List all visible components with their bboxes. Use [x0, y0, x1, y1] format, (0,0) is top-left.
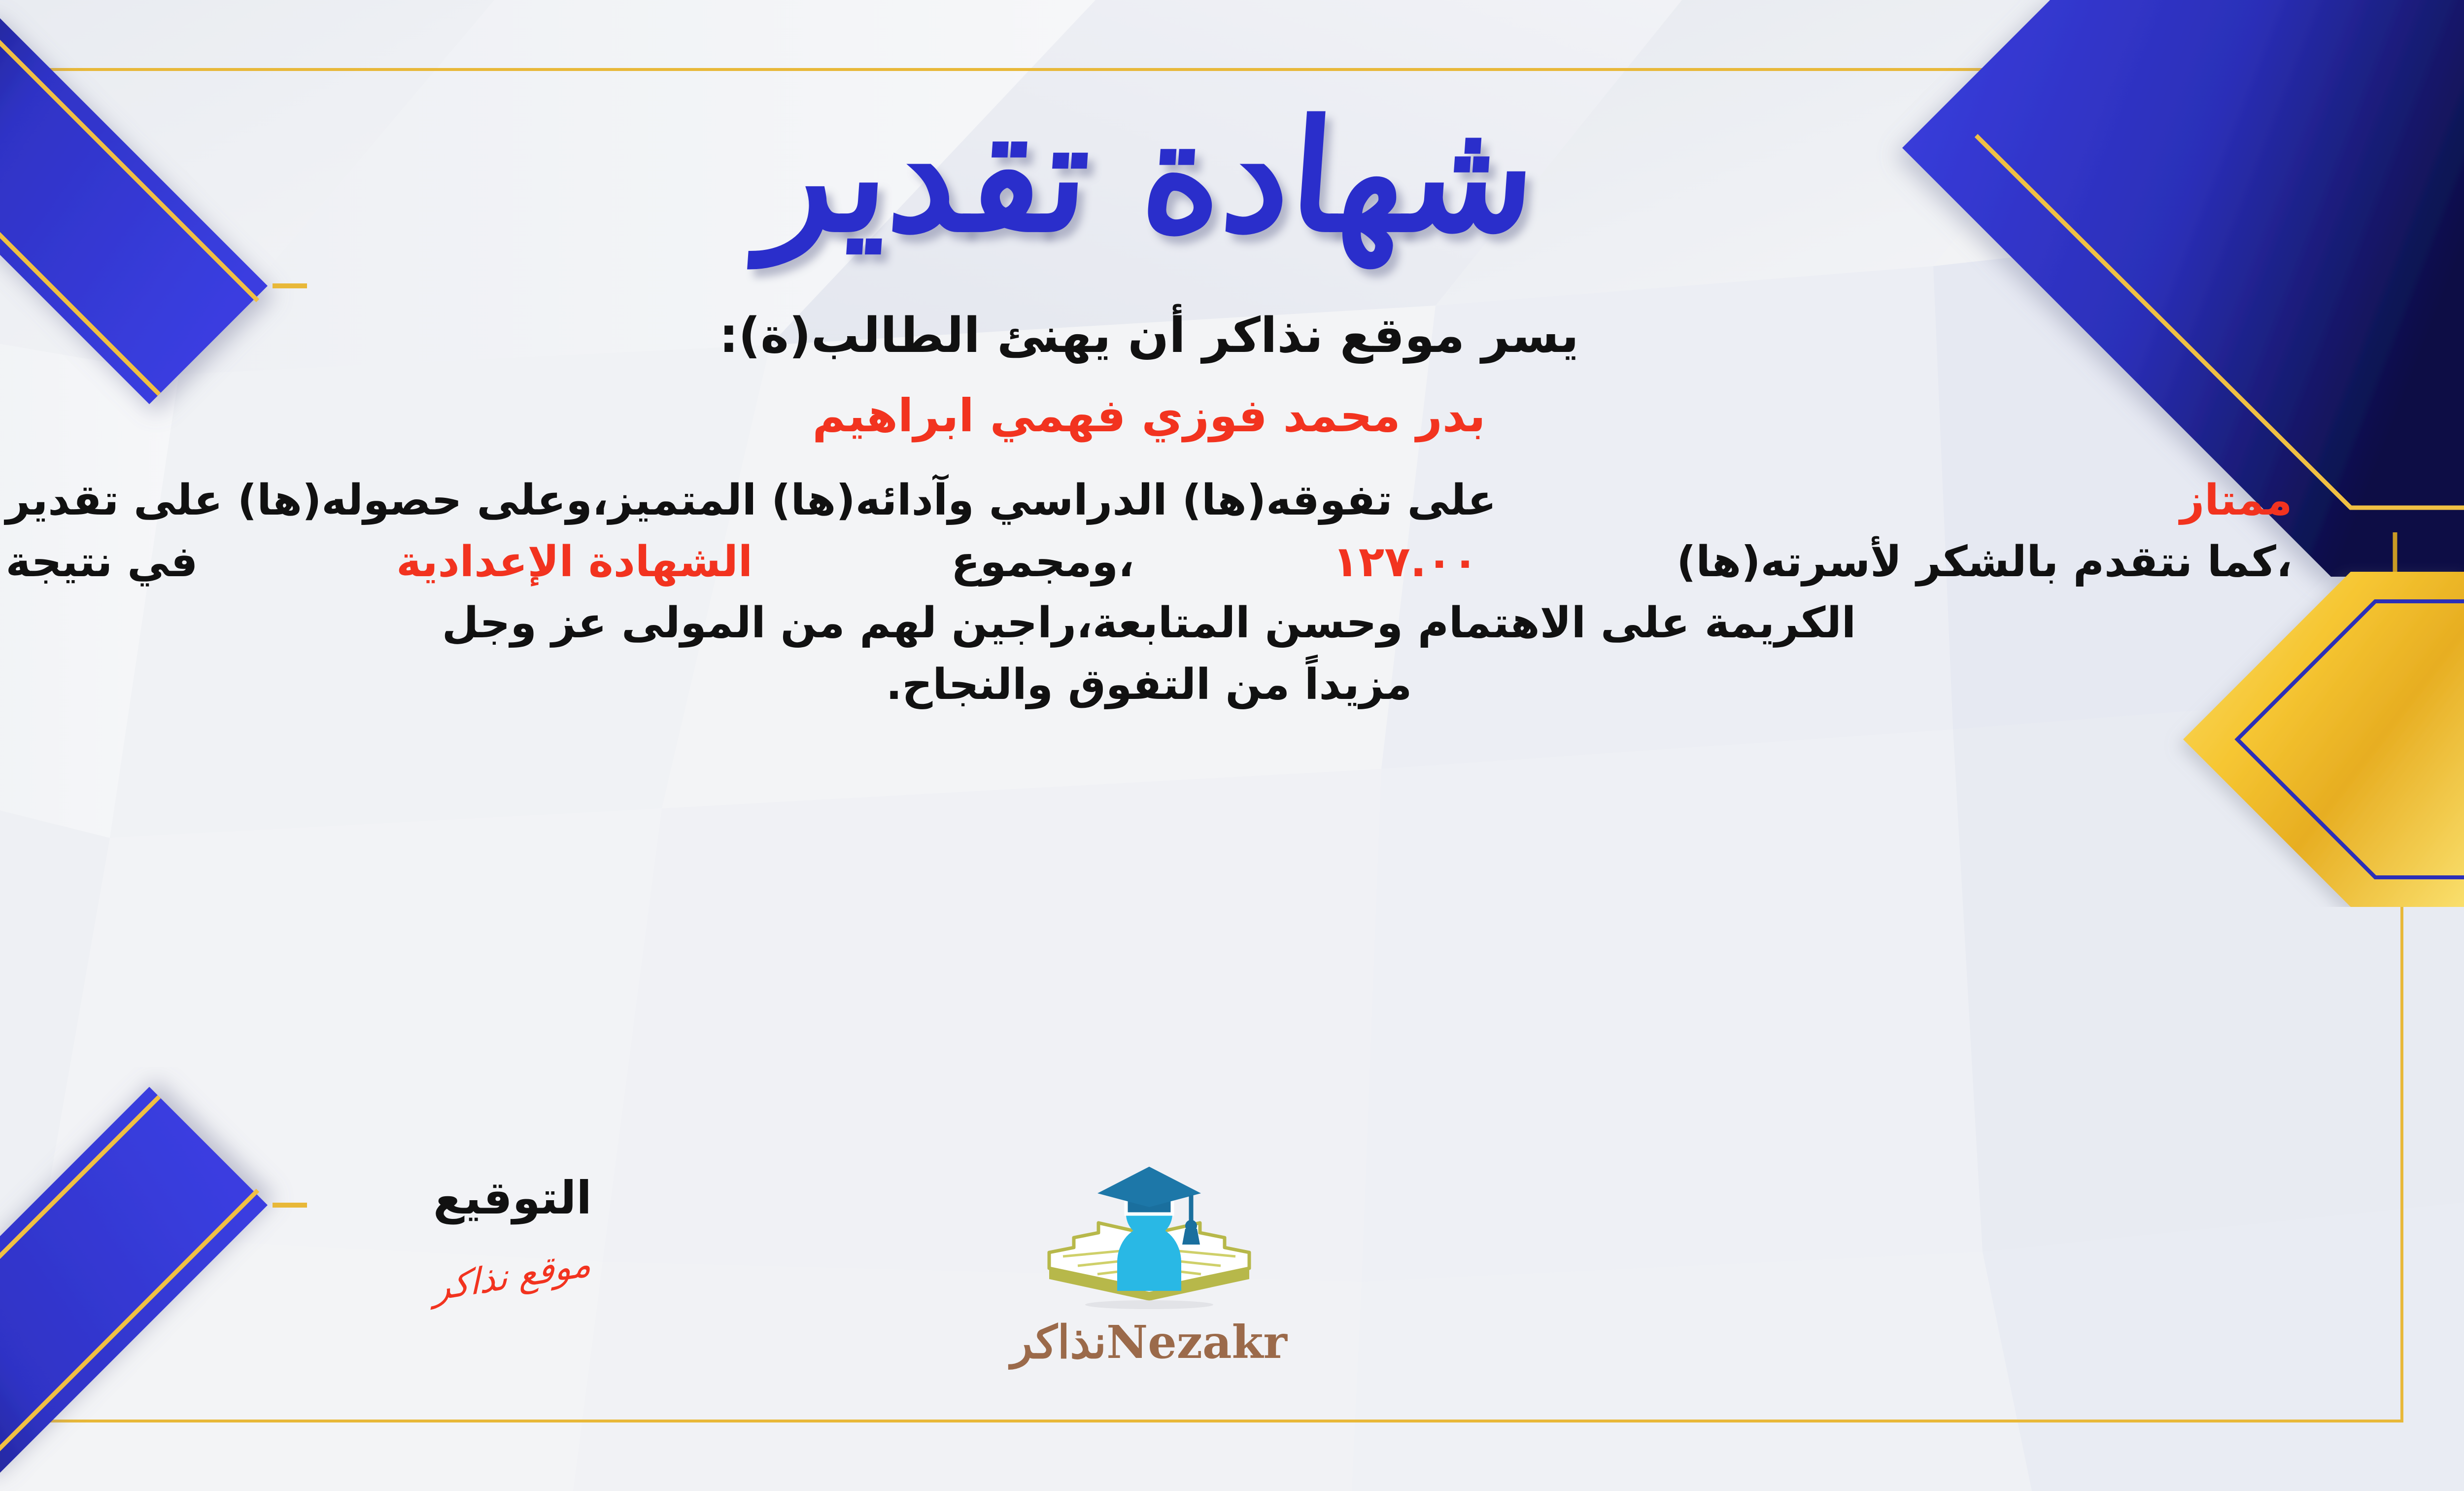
- exam-name: الشهادة الإعدادية: [396, 531, 753, 593]
- signature-label: التوقيع: [375, 1172, 650, 1224]
- intro-line: يسر موقع نذاكر أن يهنئ الطالب(ة):: [719, 308, 1579, 364]
- body-line-1: ممتاز على تفوقه(ها) الدراسي وآدائه(ها) ا…: [6, 470, 2293, 531]
- body-line-4: مزيداً من التفوق والنجاح.: [6, 654, 2293, 716]
- grade-value: ممتاز: [2180, 470, 2293, 531]
- body-line-2-total-label: ،ومجموع: [951, 531, 1134, 593]
- body-line-2-head: في نتيجة: [6, 531, 198, 593]
- signature-block: التوقيع موقع نذاكر: [375, 1172, 650, 1296]
- total-score-value: ١٢٧.٠٠: [1333, 531, 1478, 593]
- signature-script: موقع نذاكر: [434, 1242, 592, 1309]
- certificate-footer: التوقيع موقع نذاكر: [0, 1172, 2464, 1403]
- title-block: شهادة تقدير: [0, 68, 2464, 285]
- body-line-1-text: على تفوقه(ها) الدراسي وآدائه(ها) المتميز…: [6, 470, 1497, 531]
- student-name: بدر محمد فوزي فهمي ابراهيم: [812, 389, 1485, 442]
- body-line-2-tail: ،كما نتقدم بالشكر لأسرته(ها): [1677, 531, 2292, 593]
- graduate-book-logo-icon: [1043, 1165, 1255, 1313]
- logo-wordmark: Nezakrنذاكر: [962, 1316, 1336, 1369]
- body-paragraph: ممتاز على تفوقه(ها) الدراسي وآدائه(ها) ا…: [6, 470, 2293, 716]
- page-title: شهادة تقدير: [757, 100, 1540, 253]
- certificate-canvas: شهادة تقدير يسر موقع نذاكر أن يهنئ الطال…: [0, 0, 2464, 1491]
- body-line-3: الكريمة على الاهتمام وحسن المتابعة،راجين…: [6, 592, 2293, 654]
- logo-block: Nezakrنذاكر: [962, 1165, 1336, 1369]
- body-line-2: ،كما نتقدم بالشكر لأسرته(ها) ١٢٧.٠٠ ،ومج…: [6, 531, 2293, 593]
